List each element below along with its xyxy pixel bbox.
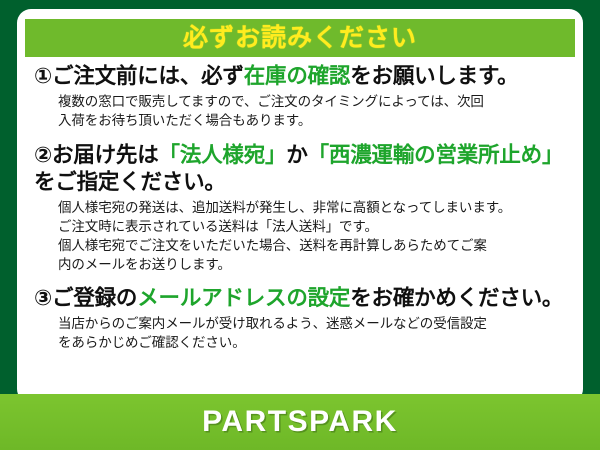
notice-card: 必ずお読みください ①ご注文前には、必ず在庫の確認をお願いします。 複数の窓口で… xyxy=(17,9,583,403)
notice-item-1-part-0: ご注文前には、必ず xyxy=(52,64,244,88)
notice-item-3-part-0: ご登録の xyxy=(52,286,137,310)
notice-item-2-part-2: か xyxy=(286,143,307,167)
notice-item-3-subline-1: をあらかじめご確認ください。 xyxy=(58,333,569,352)
notice-item-2-subline-1: ご注文時に表示されている送料は「法人送料」です。 xyxy=(58,217,569,236)
notice-item-1-subtext: 複数の窓口で販売してますので、ご注文のタイミングによっては、次回 入荷をお待ち頂… xyxy=(34,92,569,130)
notice-item-2-part-3-highlight: 「西濃運輸の営業所止め」 xyxy=(308,143,564,167)
notice-item-1-part-2: をお願いします。 xyxy=(350,64,518,88)
item-spacer-1 xyxy=(34,132,569,142)
notice-item-3-marker: ③ xyxy=(34,286,52,310)
brand-footer: PARTSPARK xyxy=(0,394,600,450)
notice-item-2-part-4: をご指定ください。 xyxy=(34,170,226,194)
notice-body: ①ご注文前には、必ず在庫の確認をお願いします。 複数の窓口で販売してますので、ご… xyxy=(25,57,575,352)
notice-frame: 必ずお読みください ①ご注文前には、必ず在庫の確認をお願いします。 複数の窓口で… xyxy=(0,0,600,450)
notice-item-3-subline-0: 当店からのご案内メールが受け取れるよう、迷惑メールなどの受信設定 xyxy=(58,314,569,333)
notice-item-3-subtext: 当店からのご案内メールが受け取れるよう、迷惑メールなどの受信設定 をあらかじめご… xyxy=(34,314,569,352)
notice-item-1-marker: ① xyxy=(34,64,52,88)
notice-item-1-subline-1: 入荷をお待ち頂いただく場合もあります。 xyxy=(58,111,569,130)
notice-item-1-heading: ①ご注文前には、必ず在庫の確認をお願いします。 xyxy=(34,63,569,91)
notice-item-1-subline-0: 複数の窓口で販売してますので、ご注文のタイミングによっては、次回 xyxy=(58,92,569,111)
notice-item-2-subline-2: 個人様宅宛でご注文をいただいた場合、送料を再計算しあらためてご案 xyxy=(58,236,569,255)
notice-item-2-subline-3: 内のメールをお送りします。 xyxy=(58,255,569,274)
brand-name: PARTSPARK xyxy=(202,405,398,439)
notice-item-1: ①ご注文前には、必ず在庫の確認をお願いします。 複数の窓口で販売してますので、ご… xyxy=(34,63,569,130)
notice-item-2-heading: ②お届け先は「法人様宛」か「西濃運輸の営業所止め」をご指定ください。 xyxy=(34,142,569,197)
item-spacer-2 xyxy=(34,276,569,285)
notice-item-3-part-2: をお確かめください。 xyxy=(350,286,563,310)
notice-item-3-heading: ③ご登録のメールアドレスの設定をお確かめください。 xyxy=(34,285,569,313)
notice-item-1-part-1-highlight: 在庫の確認 xyxy=(244,64,351,88)
notice-title: 必ずお読みください xyxy=(183,26,417,51)
notice-item-2-part-1-highlight: 「法人様宛」 xyxy=(159,143,287,167)
notice-item-3-part-1-highlight: メールアドレスの設定 xyxy=(137,286,350,310)
notice-item-2: ②お届け先は「法人様宛」か「西濃運輸の営業所止め」をご指定ください。 個人様宅宛… xyxy=(34,142,569,275)
notice-title-bar: 必ずお読みください xyxy=(25,19,575,57)
notice-item-2-marker: ② xyxy=(34,143,52,167)
notice-item-2-subtext: 個人様宅宛の発送は、追加送料が発生し、非常に高額となってしまいます。 ご注文時に… xyxy=(34,198,569,275)
notice-item-3: ③ご登録のメールアドレスの設定をお確かめください。 当店からのご案内メールが受け… xyxy=(34,285,569,352)
notice-item-2-subline-0: 個人様宅宛の発送は、追加送料が発生し、非常に高額となってしまいます。 xyxy=(58,198,569,217)
notice-item-2-part-0: お届け先は xyxy=(52,143,159,167)
